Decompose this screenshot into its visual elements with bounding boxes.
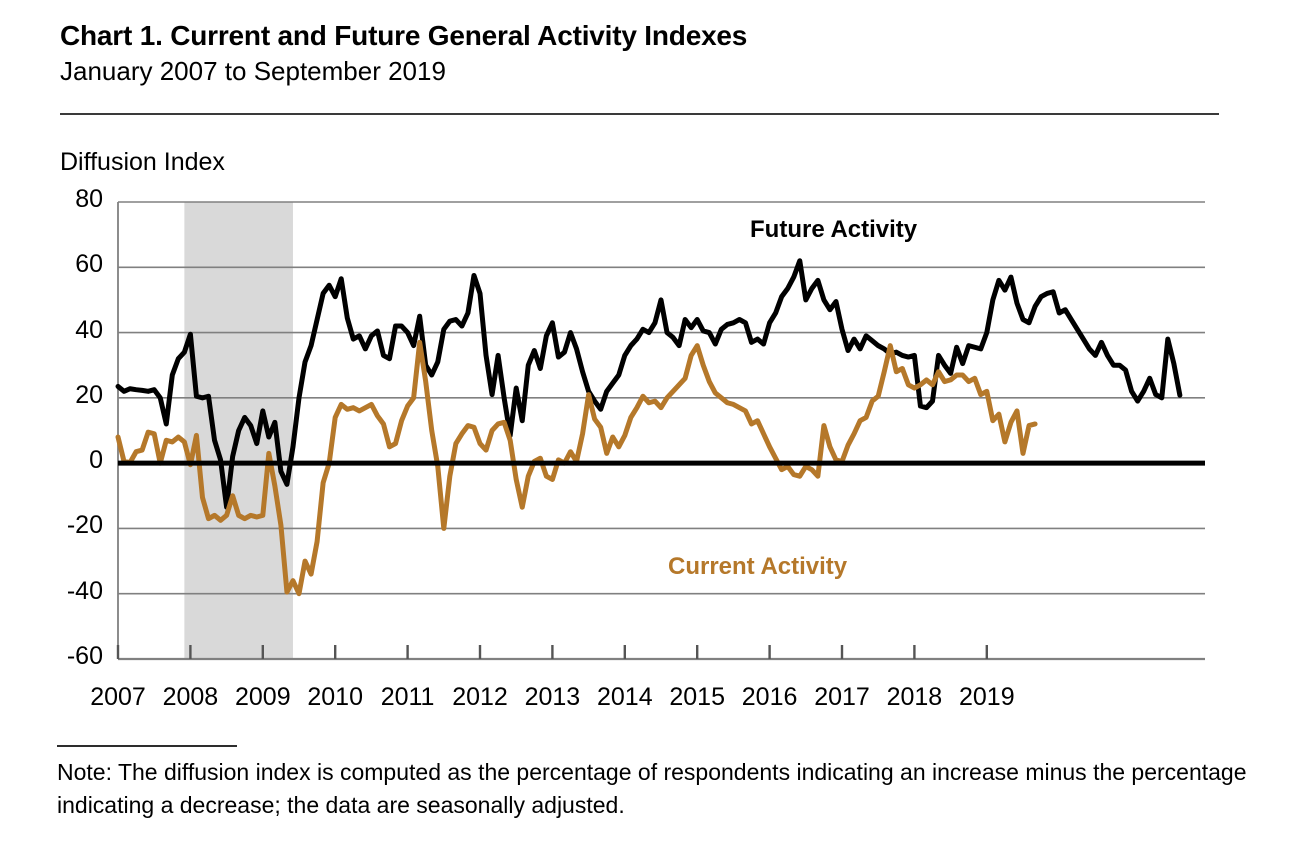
y-tick-label: 0 (33, 446, 103, 475)
y-tick-label: 40 (33, 316, 103, 345)
note-divider (57, 745, 237, 747)
y-tick-label: -40 (33, 577, 103, 606)
chart-note: Note: The diffusion index is computed as… (57, 756, 1257, 821)
series-label-future: Future Activity (750, 216, 917, 244)
y-tick-label: 60 (33, 250, 103, 279)
y-tick-label: -60 (33, 642, 103, 671)
chart-svg (0, 0, 1303, 849)
y-tick-label: 80 (33, 185, 103, 214)
chart-page: Chart 1. Current and Future General Acti… (0, 0, 1303, 849)
x-tick-label: 2019 (942, 683, 1032, 712)
series-label-current: Current Activity (668, 553, 847, 581)
chart-plot-area: 806040200-20-40-60 200720082009201020112… (0, 0, 1303, 849)
y-tick-label: 20 (33, 381, 103, 410)
y-tick-label: -20 (33, 511, 103, 540)
